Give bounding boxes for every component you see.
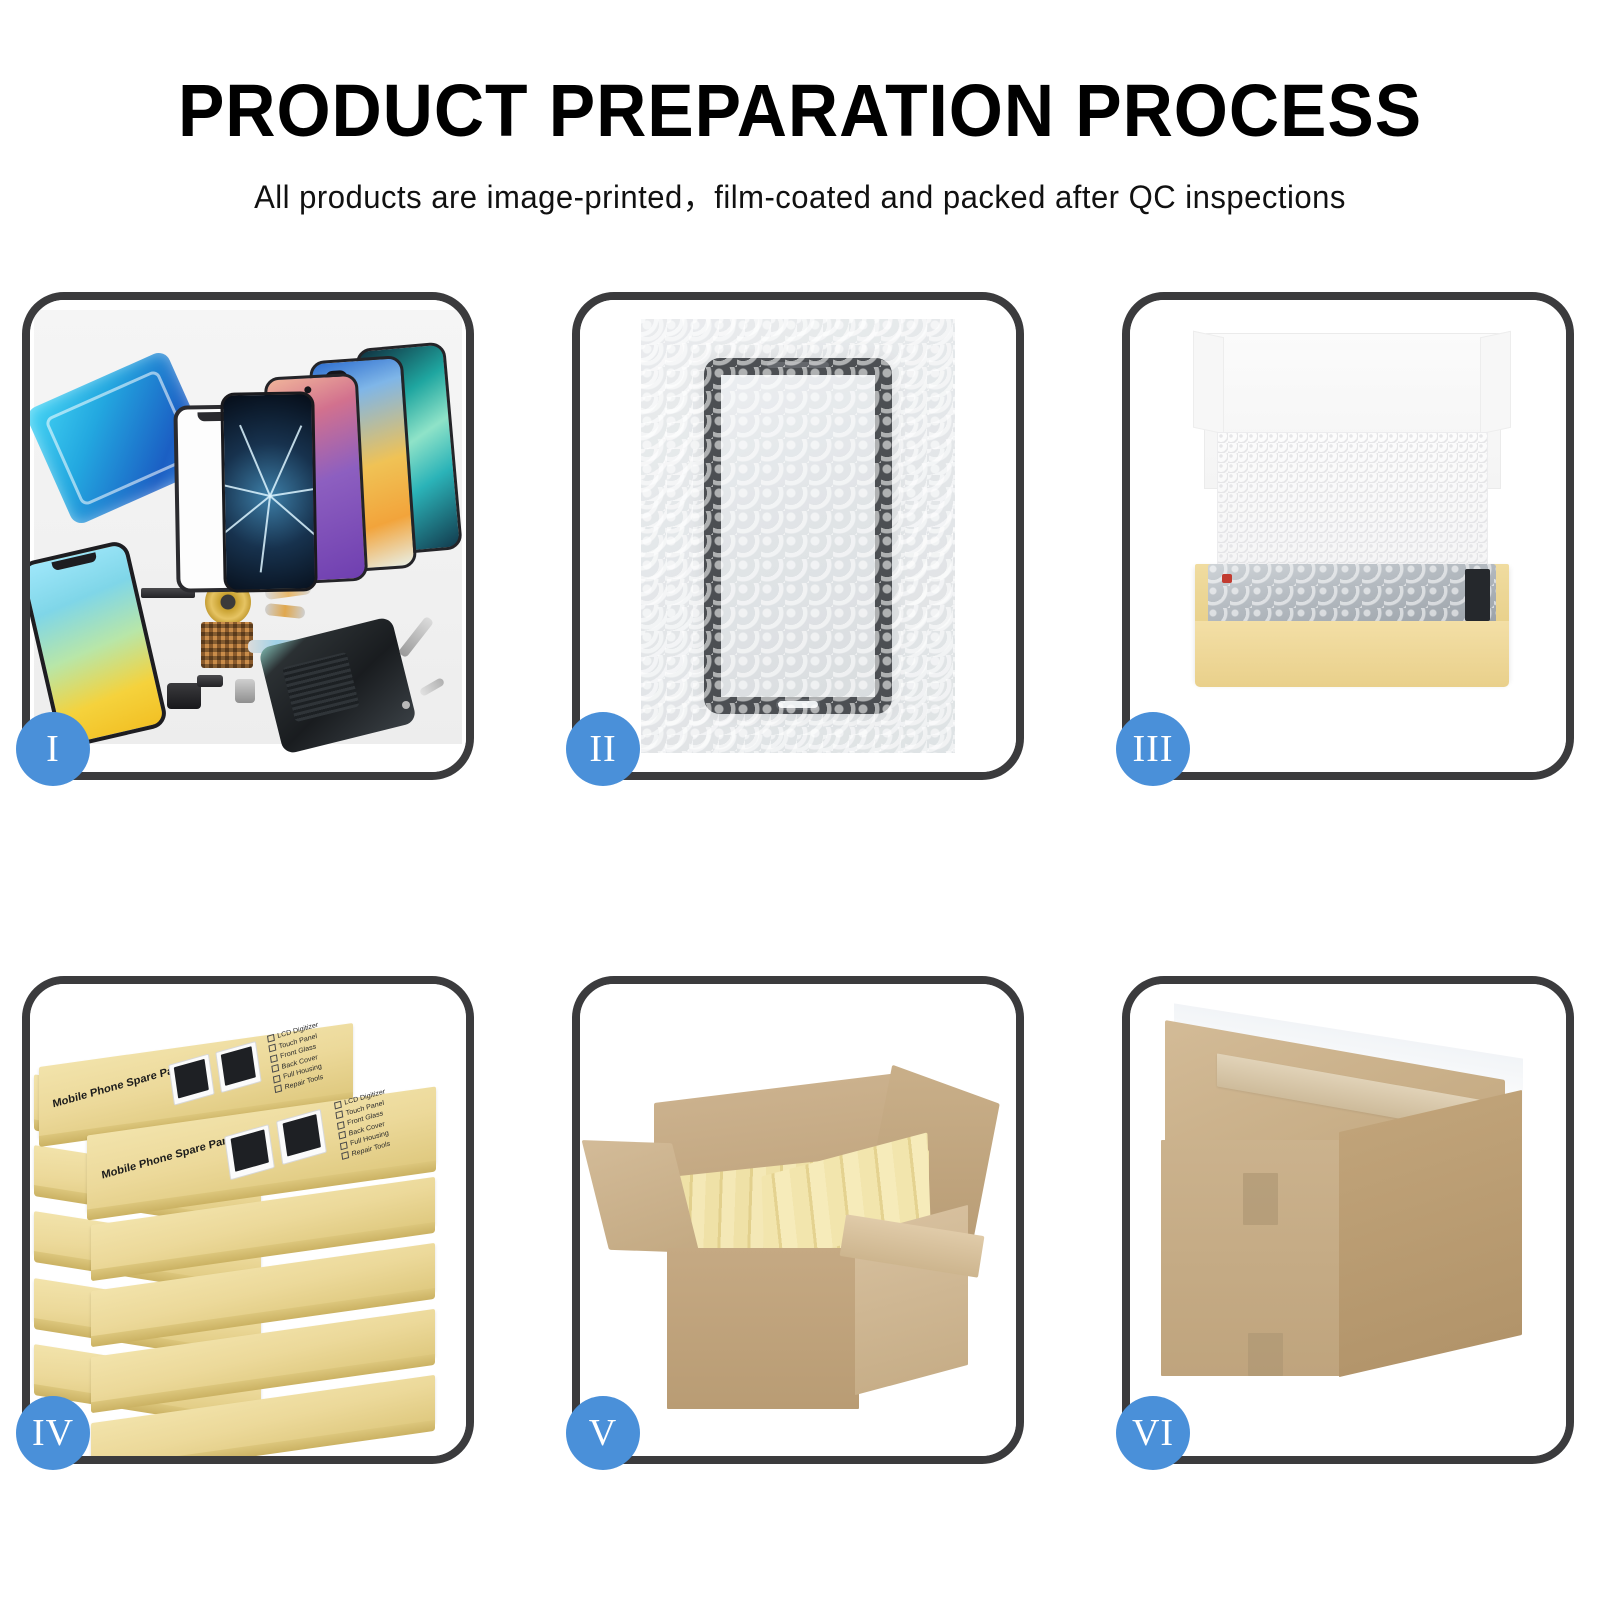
step-3-photo — [1130, 300, 1566, 772]
step-6-photo — [1130, 984, 1566, 1456]
page-title: PRODUCT PREPARATION PROCESS — [48, 72, 1552, 150]
process-step-card-6: VI — [1122, 976, 1574, 1464]
step-2-photo — [580, 300, 1016, 772]
page-subtitle: All products are image-printed，film-coat… — [24, 172, 1576, 218]
wrapped-screen-inside-box — [1208, 564, 1496, 625]
bubble-wrap-texture-overlay — [641, 319, 955, 753]
retail-box-title-1: Mobile Phone Spare Parts — [51, 1061, 187, 1110]
step-5-photo — [580, 984, 1016, 1456]
step-badge-6: VI — [1116, 1396, 1190, 1470]
retail-box-checklist-2: LCD Digitizer Touch Panel Front Glass Ba… — [334, 1088, 394, 1163]
flex-cable-part-2 — [265, 603, 306, 619]
red-connector-marker — [1222, 574, 1232, 583]
bubble-wrap-sheet — [641, 319, 955, 753]
step-badge-5: V — [566, 1396, 640, 1470]
process-step-card-2: II — [572, 292, 1024, 780]
parts-collage-background — [34, 310, 462, 744]
infographic-page: PRODUCT PREPARATION PROCESS All products… — [0, 0, 1600, 1600]
process-step-card-1: I — [22, 292, 474, 780]
step-badge-4: IV — [16, 1396, 90, 1470]
step-1-photo — [30, 300, 466, 772]
process-step-card-5: V — [572, 976, 1024, 1464]
carton-front-face — [667, 1248, 859, 1408]
speaker-module-part — [167, 683, 201, 709]
cracked-phone-screen — [221, 392, 319, 593]
carton-seam-lower — [1248, 1333, 1283, 1375]
step-4-photo: Mobile Phone Spare Parts LCD Digitizer T… — [30, 984, 466, 1456]
camera-module-part — [235, 679, 255, 703]
repair-tool-spudger — [419, 677, 446, 697]
retail-box-thumb-2b — [276, 1109, 327, 1166]
retail-box-thumb-1a — [168, 1054, 214, 1107]
box-front-wall — [1195, 621, 1509, 687]
process-step-grid: I II III — [22, 292, 1578, 1464]
process-step-card-3: III — [1122, 292, 1574, 780]
retail-box-checklist-1: LCD Digitizer Touch Panel Front Glass Ba… — [267, 1021, 327, 1096]
process-step-card-4: Mobile Phone Spare Parts LCD Digitizer T… — [22, 976, 474, 1464]
header: PRODUCT PREPARATION PROCESS All products… — [0, 0, 1600, 218]
vibration-motor-part — [197, 675, 223, 687]
step-badge-3: III — [1116, 712, 1190, 786]
carton-seam-upper — [1243, 1173, 1278, 1225]
white-foam-lining — [1217, 432, 1487, 583]
screw-part — [402, 701, 410, 709]
sealed-carton-side-face — [1339, 1090, 1522, 1378]
repair-tool-tweezers — [398, 616, 434, 658]
step-badge-2: II — [566, 712, 640, 786]
retail-box-thumb-1b — [215, 1041, 261, 1094]
retail-box-title-2: Mobile Phone Spare Parts — [100, 1133, 236, 1182]
ic-chip-part — [201, 622, 253, 668]
retail-box-stack: Mobile Phone Spare Parts LCD Digitizer T… — [30, 984, 466, 1456]
opened-phone-chassis — [258, 616, 417, 754]
step-badge-1: I — [16, 712, 90, 786]
